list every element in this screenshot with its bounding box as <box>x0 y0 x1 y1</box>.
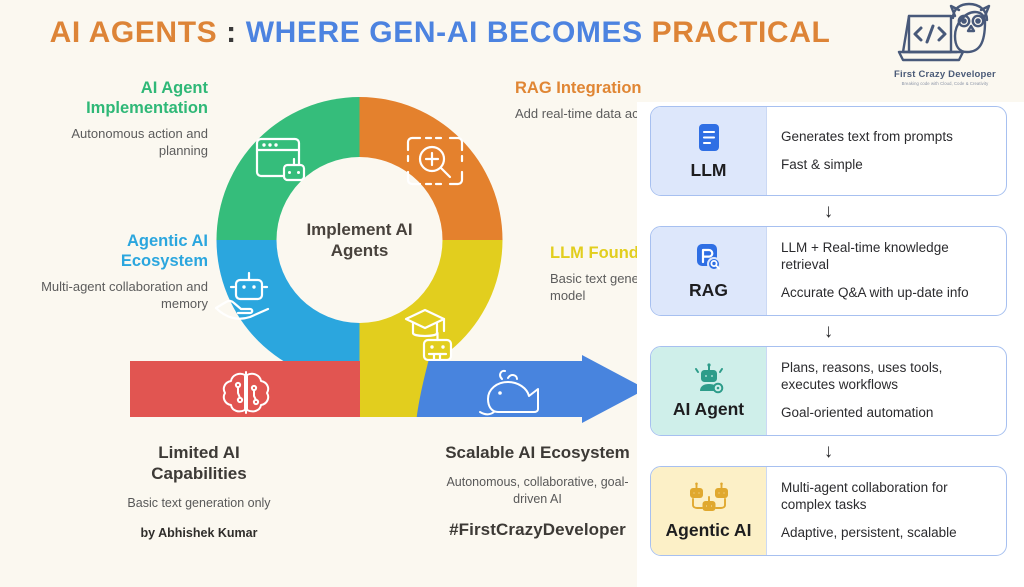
quadrant-heading: RAG Integration <box>515 78 680 98</box>
logo-tagline: Breaking code with Cloud, Code & Creativ… <box>880 81 1010 86</box>
robot-gear-icon <box>691 363 727 395</box>
progress-arrow-svg <box>130 355 646 423</box>
card-icon-area-agentic-ai: Agentic AI <box>651 467 767 555</box>
owl-laptop-icon <box>889 2 1001 68</box>
card-body-ai-agent: Plans, reasons, uses tools, executes wor… <box>767 347 1006 435</box>
donut-center-line1: Implement AI <box>276 219 444 240</box>
document-search-icon <box>692 242 726 276</box>
quadrant-sub: Autonomous action and planning <box>40 125 208 159</box>
donut-chart: Implement AI Agents <box>192 97 527 383</box>
quadrant-heading: AI Agent Implementation <box>40 78 208 118</box>
pipeline-card-list: LLM Generates text from prompts Fast & s… <box>650 106 1007 556</box>
multi-robot-network-icon <box>686 482 732 516</box>
bottom-label-scalable-ai: Scalable AI Ecosystem Autonomous, collab… <box>440 442 635 540</box>
bottom-sub: Basic text generation only <box>110 495 288 512</box>
page-title: AI AGENTS : WHERE GEN-AI BECOMES PRACTIC… <box>0 16 880 50</box>
infographic-canvas: AI AGENTS : WHERE GEN-AI BECOMES PRACTIC… <box>0 0 1024 587</box>
card-icon-area-llm: LLM <box>651 107 767 195</box>
card-icon-area-rag: RAG <box>651 227 767 315</box>
quadrant-label-ai-agent-implementation: AI Agent Implementation Autonomous actio… <box>40 78 208 160</box>
bottom-heading: Limited AI Capabilities <box>110 442 288 484</box>
title-part-3: PRACTICAL <box>652 16 831 49</box>
pipeline-card-rag[interactable]: RAG LLM + Real-time knowledge retrieval … <box>650 226 1007 316</box>
card-line-1: Plans, reasons, uses tools, executes wor… <box>781 360 994 393</box>
quadrant-label-agentic-ai-ecosystem: Agentic AI Ecosystem Multi-agent collabo… <box>40 231 208 313</box>
card-label-ai-agent: AI Agent <box>673 399 744 420</box>
author-byline: by Abhishek Kumar <box>110 526 288 540</box>
title-part-1: AI AGENTS <box>50 16 218 49</box>
brand-logo: First Crazy Developer Breaking code with… <box>880 2 1010 94</box>
title-part-2: WHERE GEN-AI BECOMES <box>246 16 643 49</box>
card-line-2: Accurate Q&A with up-date info <box>781 285 994 302</box>
logo-brand-name: First Crazy Developer <box>880 69 1010 80</box>
card-body-rag: LLM + Real-time knowledge retrieval Accu… <box>767 227 1006 315</box>
card-label-agentic-ai: Agentic AI <box>666 520 752 541</box>
donut-center-line2: Agents <box>276 240 444 261</box>
card-line-2: Goal-oriented automation <box>781 405 994 422</box>
card-line-2: Fast & simple <box>781 157 994 174</box>
pipeline-card-agentic-ai[interactable]: Agentic AI Multi-agent collaboration for… <box>650 466 1007 556</box>
bottom-label-limited-ai: Limited AI Capabilities Basic text gener… <box>110 442 288 540</box>
hashtag: #FirstCrazyDeveloper <box>440 520 635 540</box>
card-label-rag: RAG <box>689 280 728 301</box>
title-colon: : <box>226 16 237 49</box>
card-body-llm: Generates text from prompts Fast & simpl… <box>767 107 1006 195</box>
flow-arrow-2: ↓ <box>650 316 1007 346</box>
card-line-1: Multi-agent collaboration for complex ta… <box>781 480 994 513</box>
document-lines-icon <box>692 122 726 156</box>
card-line-2: Adaptive, persistent, scalable <box>781 525 994 542</box>
quadrant-sub: Multi-agent collaboration and memory <box>40 278 208 312</box>
card-line-1: Generates text from prompts <box>781 129 994 146</box>
card-icon-area-ai-agent: AI Agent <box>651 347 767 435</box>
pipeline-card-llm[interactable]: LLM Generates text from prompts Fast & s… <box>650 106 1007 196</box>
quadrant-heading: Agentic AI Ecosystem <box>40 231 208 271</box>
card-line-1: LLM + Real-time knowledge retrieval <box>781 240 994 273</box>
bottom-sub: Autonomous, collaborative, goal-driven A… <box>440 474 635 508</box>
card-label-llm: LLM <box>691 160 727 181</box>
flow-arrow-3: ↓ <box>650 436 1007 466</box>
flow-arrow-1: ↓ <box>650 196 1007 226</box>
pipeline-card-ai-agent[interactable]: AI Agent Plans, reasons, uses tools, exe… <box>650 346 1007 436</box>
progress-arrow <box>130 355 646 423</box>
card-body-agentic-ai: Multi-agent collaboration for complex ta… <box>767 467 1006 555</box>
donut-center-label: Implement AI Agents <box>276 219 444 262</box>
bottom-heading: Scalable AI Ecosystem <box>440 442 635 463</box>
